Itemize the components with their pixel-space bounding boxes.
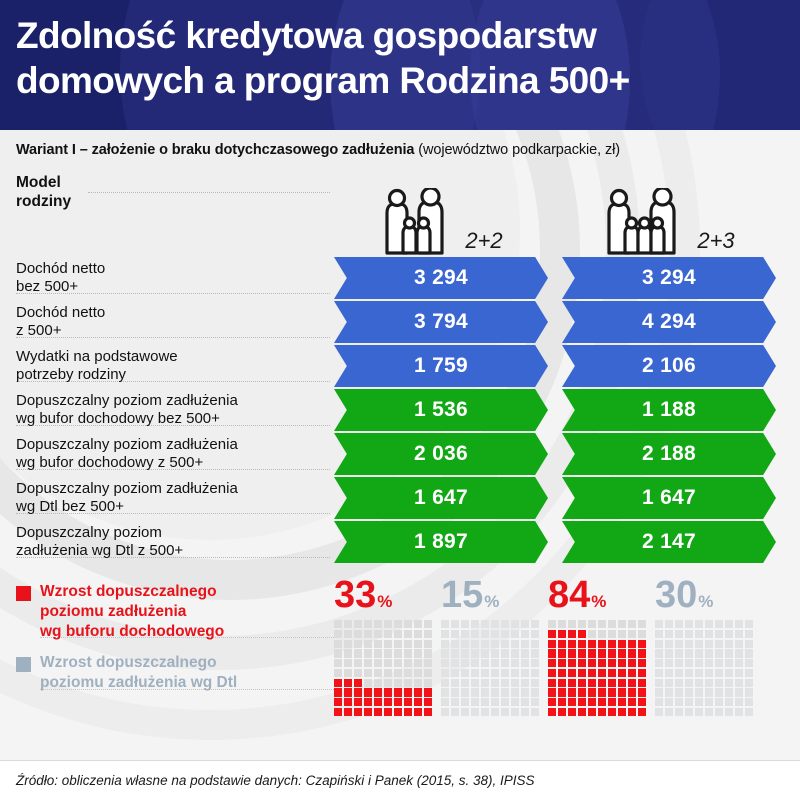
waffle-dot [618,688,626,696]
waffle-dot [685,679,693,687]
table-row: Dopuszczalny poziom zadłużeniawg bufor d… [16,388,784,432]
waffle-dot [588,679,596,687]
percent-symbol: % [698,592,713,611]
waffle-dot [735,659,743,667]
family-2plus2-icon [379,188,457,256]
table-cell: 1 897 [334,521,548,563]
waffle-dot [588,620,596,628]
waffle-dot [578,698,586,706]
waffle-dot [608,640,616,648]
waffle-dot [441,698,449,706]
waffle-dot [334,630,342,638]
waffle-dot [608,649,616,657]
waffle-grid [441,620,539,716]
waffle-dot [404,679,412,687]
waffle-dot [404,620,412,628]
waffle-dot [638,640,646,648]
waffle-dot [384,669,392,677]
value-bar: 1 759 [334,345,548,387]
waffle-dot [558,679,566,687]
waffle-dot [384,649,392,657]
waffle-dot [394,679,402,687]
waffle-dot [451,679,459,687]
waffle-dot [745,630,753,638]
waffle-dot [665,679,673,687]
percent-value: 84% [548,576,606,614]
waffle-dot [374,620,382,628]
value-bar: 3 294 [334,257,548,299]
waffle-dot [638,708,646,716]
waffle-dot [665,620,673,628]
waffle-dot [685,649,693,657]
waffle-dot [655,708,663,716]
waffle-dot [725,640,733,648]
waffle-dot [715,669,723,677]
waffle-dot [598,669,606,677]
row-label-line-1: Dopuszczalny poziom zadłużenia [16,480,324,498]
waffle-dot [558,620,566,628]
waffle-dot [745,669,753,677]
waffle-dot [414,708,422,716]
waffle-dot [675,640,683,648]
waffle-dot [655,679,663,687]
waffle-dot [735,620,743,628]
waffle-dot [598,640,606,648]
waffle-dot [638,688,646,696]
waffle-dot [451,630,459,638]
waffle-dot [481,669,489,677]
legend-item: Wzrost dopuszczalnegopoziomu zadłużeniaw… [16,582,334,641]
waffle-dot [628,679,636,687]
waffle-dot [628,659,636,667]
waffle-dot [441,640,449,648]
waffle-dot [531,649,539,657]
waffle-dot [374,679,382,687]
waffle-dot [424,688,432,696]
waffle-dot [404,659,412,667]
waffle-grid [548,620,646,716]
waffle-dot [665,708,673,716]
waffle-dot [424,620,432,628]
waffle-dot [588,688,596,696]
waffle-dot [568,649,576,657]
row-label-line-1: Dopuszczalny poziom zadłużenia [16,436,324,454]
waffle-dot [414,669,422,677]
table-cell: 1 536 [334,389,548,431]
waffle-dot [548,708,556,716]
waffle-dot [471,669,479,677]
waffle-dot [578,659,586,667]
waffle-charts: 33%15%84%30% [334,576,784,716]
waffle-dot [471,659,479,667]
infographic-root: Zdolność kredytowa gospodarstw domowych … [0,0,800,800]
waffle-dot [374,640,382,648]
waffle-dot [344,688,352,696]
waffle-dot [695,620,703,628]
row-label-line-1: Wydatki na podstawowe [16,348,324,366]
waffle-dot [491,630,499,638]
waffle-dot [665,688,673,696]
legend-label: Wzrost dopuszczalnegopoziomu zadłużenia … [40,653,237,693]
waffle-dot [745,688,753,696]
table-row: Dopuszczalny poziomzadłużenia wg Dtl z 5… [16,520,784,564]
value-bar: 1 647 [334,477,548,519]
waffle-dot [705,649,713,657]
waffle-dot [558,688,566,696]
waffle-dot [745,640,753,648]
waffle-dot [588,640,596,648]
waffle-dot [685,630,693,638]
waffle-dot [578,640,586,648]
waffle-dot [558,669,566,677]
waffle-dot [404,649,412,657]
waffle-dot [394,649,402,657]
waffle-dot [675,679,683,687]
value-bar: 2 036 [334,433,548,475]
waffle-dot [548,679,556,687]
waffle-dot [578,708,586,716]
waffle-dot [705,640,713,648]
waffle-dot [725,698,733,706]
waffle-dot [394,698,402,706]
waffle-dot [481,620,489,628]
model-label-line-2: rodziny [16,193,71,212]
waffle-dot [725,620,733,628]
waffle-dot [471,640,479,648]
waffle-dot [598,630,606,638]
value-bar: 3 794 [334,301,548,343]
waffle-dot [715,640,723,648]
waffle-dot [344,630,352,638]
waffle-dot [568,659,576,667]
waffle-dot [568,708,576,716]
waffle-dot [354,630,362,638]
waffle-dot [558,649,566,657]
leader-line [88,192,330,193]
waffle-dot [384,698,392,706]
waffle-dot [481,708,489,716]
waffle-dot [745,620,753,628]
waffle-dot [608,620,616,628]
waffle-dot [531,640,539,648]
waffle-group: 30% [655,576,762,716]
row-label-line-1: Dopuszczalny poziom zadłużenia [16,392,324,410]
subtitle-paren: (województwo podkarpackie, zł) [414,142,620,158]
waffle-dot [334,708,342,716]
waffle-dot [404,640,412,648]
waffle-dot [655,688,663,696]
waffle-dot [725,708,733,716]
waffle-dot [521,698,529,706]
waffle-dot [414,649,422,657]
row-header-model-label: Model rodziny [16,168,334,256]
table-cell: 2 036 [334,433,548,475]
table-cell: 4 294 [562,301,776,343]
waffle-grid [655,620,753,716]
waffle-dot [441,659,449,667]
waffle-dot [354,698,362,706]
waffle-dot [414,659,422,667]
waffle-dot [568,630,576,638]
waffle-dot [725,630,733,638]
waffle-dot [414,679,422,687]
waffle-dot [665,630,673,638]
waffle-dot [548,669,556,677]
waffle-dot [424,630,432,638]
waffle-dot [451,659,459,667]
waffle-dot [568,669,576,677]
waffle-dot [655,649,663,657]
waffle-dot [394,659,402,667]
waffle-dot [568,679,576,687]
row-label: Dopuszczalny poziomzadłużenia wg Dtl z 5… [16,524,334,559]
waffle-dot [598,649,606,657]
waffle-dot [685,708,693,716]
waffle-dot [618,659,626,667]
waffle-dot [441,708,449,716]
percent-number: 33 [334,574,376,616]
page-title-line-2: domowych a program Rodzina 500+ [16,58,784,103]
waffle-dot [705,688,713,696]
waffle-dot [628,688,636,696]
waffle-dot [695,669,703,677]
waffle-dot [618,630,626,638]
value-bar: 2 106 [562,345,776,387]
table-cell: 2 188 [562,433,776,475]
waffle-dot [598,688,606,696]
waffle-dot [638,649,646,657]
waffle-dot [655,630,663,638]
waffle-dot [451,649,459,657]
table-row: Dochód nettoz 500+3 7944 294 [16,300,784,344]
subtitle-bold: Wariant I – założenie o braku dotychczas… [16,142,414,158]
percent-number: 84 [548,574,590,616]
waffle-dot [638,630,646,638]
waffle-dot [725,688,733,696]
legend-swatch-grey [16,657,31,672]
waffle-dot [618,649,626,657]
percent-number: 30 [655,574,697,616]
waffle-dot [598,659,606,667]
waffle-dot [685,669,693,677]
header-banner: Zdolność kredytowa gospodarstw domowych … [0,0,800,130]
waffle-dot [521,688,529,696]
waffle-dot [424,698,432,706]
waffle-dot [685,620,693,628]
waffle-dot [344,640,352,648]
waffle-dot [705,679,713,687]
waffle-dot [511,659,519,667]
waffle-group: 15% [441,576,548,716]
waffle-group: 84% [548,576,655,716]
table-cell: 3 294 [334,257,548,299]
waffle-dot [501,708,509,716]
waffle-dot [461,659,469,667]
waffle-dot [588,659,596,667]
waffle-dot [424,659,432,667]
waffle-dot [344,659,352,667]
waffle-dot [548,659,556,667]
waffle-dot [441,679,449,687]
waffle-dot [491,640,499,648]
column-header-2plus3: 2+3 [562,168,776,256]
waffle-dot [628,708,636,716]
waffle-dot [384,688,392,696]
waffle-dot [461,669,469,677]
page-title: Zdolność kredytowa gospodarstw domowych … [0,0,800,103]
column-label-2plus3: 2+3 [697,228,734,254]
waffle-dot [618,640,626,648]
waffle-dot [665,669,673,677]
waffle-dot [715,698,723,706]
waffle-dot [491,698,499,706]
waffle-dot [414,698,422,706]
waffle-dot [665,659,673,667]
waffle-dot [374,669,382,677]
waffle-dot [491,688,499,696]
waffle-dot [558,708,566,716]
waffle-dot [481,659,489,667]
waffle-dot [364,688,372,696]
waffle-dot [685,698,693,706]
waffle-dot [558,630,566,638]
waffle-dot [531,679,539,687]
waffle-dot [685,688,693,696]
waffle-dot [334,688,342,696]
waffle-dot [334,659,342,667]
waffle-dot [725,669,733,677]
waffle-dot [695,679,703,687]
row-label-line-1: Dochód netto [16,304,324,322]
waffle-dot [481,630,489,638]
waffle-dot [354,659,362,667]
waffle-dot [655,698,663,706]
legend-label: Wzrost dopuszczalnegopoziomu zadłużeniaw… [40,582,224,641]
waffle-dot [628,630,636,638]
waffle-dot [558,698,566,706]
waffle-dot [354,640,362,648]
waffle-dot [705,620,713,628]
waffle-dot [461,630,469,638]
waffle-dot [638,669,646,677]
waffle-dot [588,669,596,677]
waffle-dot [481,649,489,657]
waffle-dot [598,708,606,716]
waffle-dot [511,698,519,706]
waffle-dot [491,708,499,716]
waffle-dot [334,620,342,628]
table-row: Wydatki na podstawowepotrzeby rodziny1 7… [16,344,784,388]
waffle-dot [511,649,519,657]
waffle-dot [608,669,616,677]
waffle-dot [461,679,469,687]
legend: Wzrost dopuszczalnegopoziomu zadłużeniaw… [16,576,334,716]
waffle-dot [354,669,362,677]
waffle-dot [598,679,606,687]
waffle-dot [705,630,713,638]
waffle-dot [344,708,352,716]
waffle-dot [745,698,753,706]
waffle-dot [471,679,479,687]
waffle-dot [364,659,372,667]
waffle-dot [578,630,586,638]
waffle-dot [638,698,646,706]
waffle-dot [598,620,606,628]
row-label: Dochód nettobez 500+ [16,260,334,295]
waffle-dot [374,688,382,696]
legend-label-line: poziomu zadłużenia wg Dtl [40,673,237,693]
waffle-group: 33% [334,576,441,716]
waffle-dot [628,640,636,648]
waffle-dot [618,679,626,687]
waffle-dot [521,620,529,628]
waffle-dot [745,708,753,716]
waffle-dot [501,679,509,687]
waffle-dot [364,708,372,716]
waffle-dot [608,698,616,706]
legend-label-line: Wzrost dopuszczalnego [40,582,224,602]
legend-label-line: wg buforu dochodowego [40,622,224,642]
waffle-dot [404,698,412,706]
waffle-dot [394,620,402,628]
waffle-dot [404,688,412,696]
waffle-dot [511,640,519,648]
waffle-dot [531,708,539,716]
page-title-line-1: Zdolność kredytowa gospodarstw [16,13,784,58]
waffle-dot [414,640,422,648]
waffle-dot [344,649,352,657]
waffle-dot [598,698,606,706]
subtitle: Wariant I – założenie o braku dotychczas… [16,130,784,168]
waffle-dot [735,679,743,687]
waffle-dot [735,688,743,696]
waffle-dot [511,688,519,696]
percent-value: 30% [655,576,713,614]
waffle-dot [481,688,489,696]
waffle-dot [618,669,626,677]
waffle-dot [461,649,469,657]
waffle-dot [608,708,616,716]
legend-label-line: poziomu zadłużenia [40,602,224,622]
waffle-dot [414,630,422,638]
waffle-dot [414,620,422,628]
waffle-dot [531,620,539,628]
waffle-dot [548,649,556,657]
waffle-dot [531,630,539,638]
waffle-dot [471,630,479,638]
waffle-dot [461,698,469,706]
column-header-2plus2: 2+2 [334,168,548,256]
table-cell: 1 647 [334,477,548,519]
waffle-dot [548,630,556,638]
waffle-dot [521,630,529,638]
waffle-dot [735,630,743,638]
waffle-dot [451,708,459,716]
waffle-dot [471,698,479,706]
waffle-dot [364,630,372,638]
waffle-dot [461,708,469,716]
waffle-dot [578,679,586,687]
waffle-dot [568,640,576,648]
waffle-dot [695,688,703,696]
waffle-dot [715,688,723,696]
waffle-dot [451,669,459,677]
waffle-dot [354,688,362,696]
waffle-dot [715,649,723,657]
waffle-dot [441,669,449,677]
waffle-dot [548,688,556,696]
waffle-dot [588,630,596,638]
